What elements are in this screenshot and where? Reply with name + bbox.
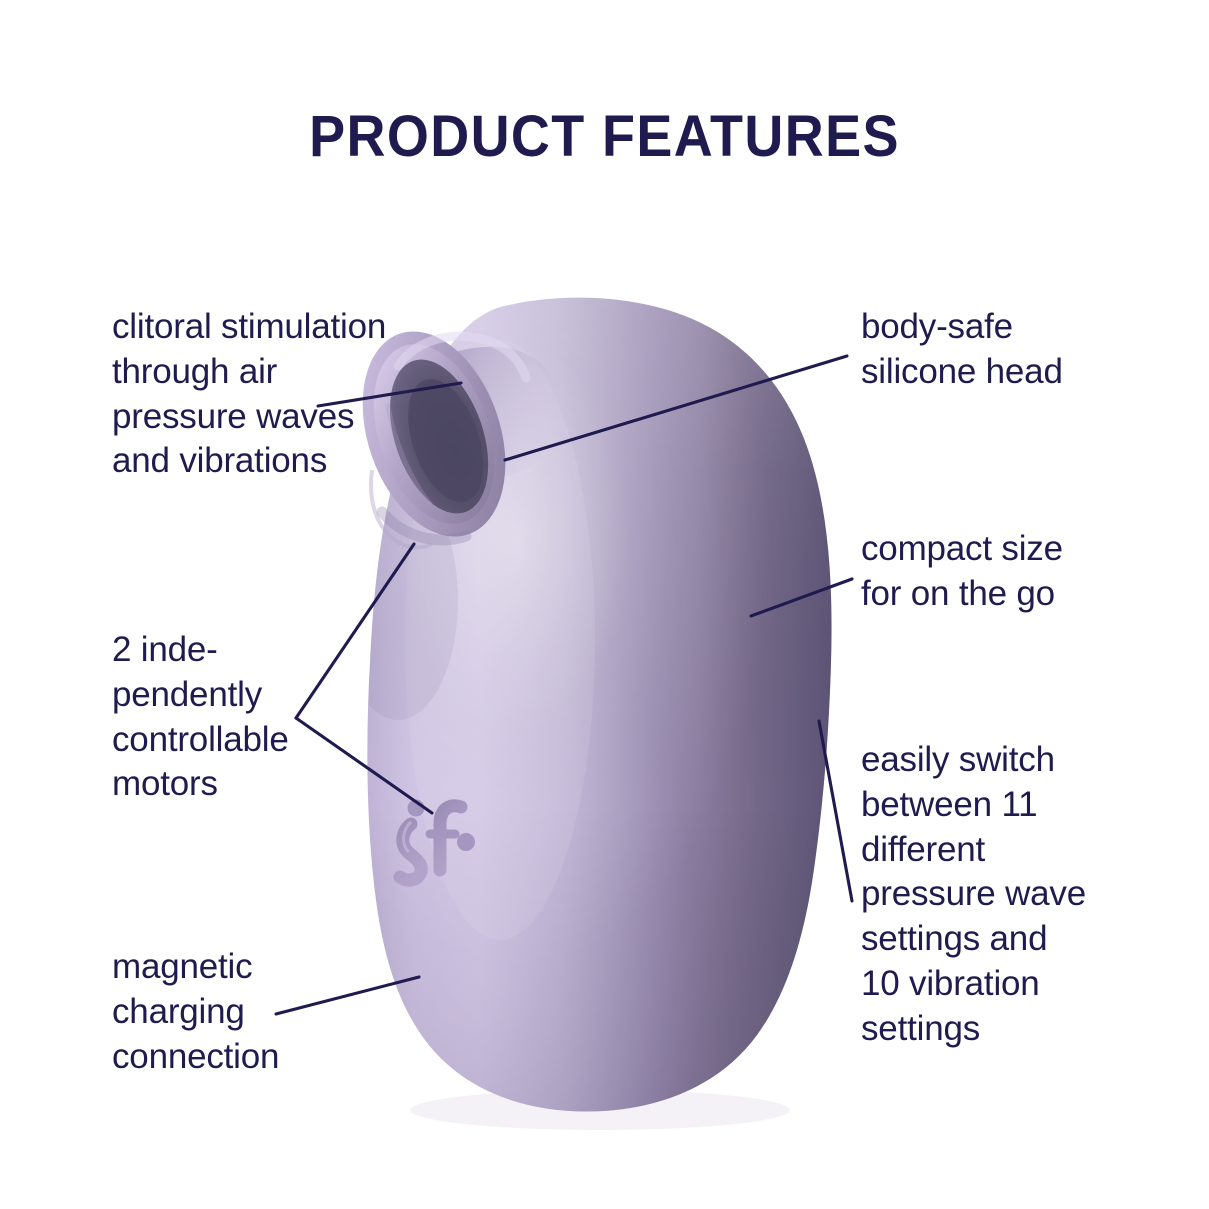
product-illustration xyxy=(0,0,1209,1209)
product-features-infographic: PRODUCT FEATURES xyxy=(0,0,1209,1209)
